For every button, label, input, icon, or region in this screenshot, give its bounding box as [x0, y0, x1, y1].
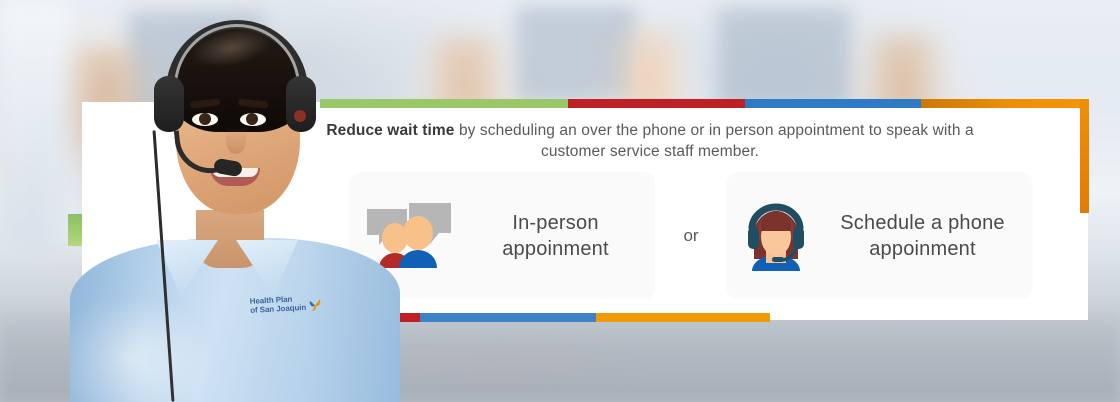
customer-service-agent-photo: Health Plan of San Joaquin: [118, 0, 358, 402]
phone-appointment-label: Schedule a phone appoinment: [825, 210, 1032, 262]
headset-indicator-dot: [294, 110, 306, 122]
butterfly-icon: [309, 298, 322, 312]
headset-earcup-right: [286, 76, 316, 132]
in-person-appointment-label: In-person appoinment: [468, 210, 655, 262]
agent-pupil-left: [199, 113, 211, 125]
bottom-stripe-segment-blue: [420, 313, 596, 322]
background-monitor-3: [718, 8, 850, 108]
agent-pupil-right: [246, 113, 258, 125]
headset-earcup-left: [154, 76, 184, 132]
headline-rest: by scheduling an over the phone or in pe…: [455, 122, 974, 160]
appointment-banner: Reduce wait time by scheduling an over t…: [0, 0, 1120, 402]
or-separator: or: [655, 173, 727, 298]
right-orange-bar: [1080, 99, 1089, 213]
phone-appointment-button[interactable]: Schedule a phone appoinment: [727, 173, 1032, 298]
stripe-segment-red: [568, 99, 745, 108]
logo-wordmark: Health Plan of San Joaquin: [250, 295, 307, 315]
appointment-options: In-person appoinment or S: [350, 173, 1032, 298]
stripe-segment-blue: [745, 99, 921, 108]
headline-copy: Reduce wait time by scheduling an over t…: [300, 120, 1000, 162]
stripe-segment-orange: [921, 99, 1089, 108]
bottom-stripe-segment-orange: [596, 313, 770, 322]
headset-agent-icon: [727, 201, 825, 271]
